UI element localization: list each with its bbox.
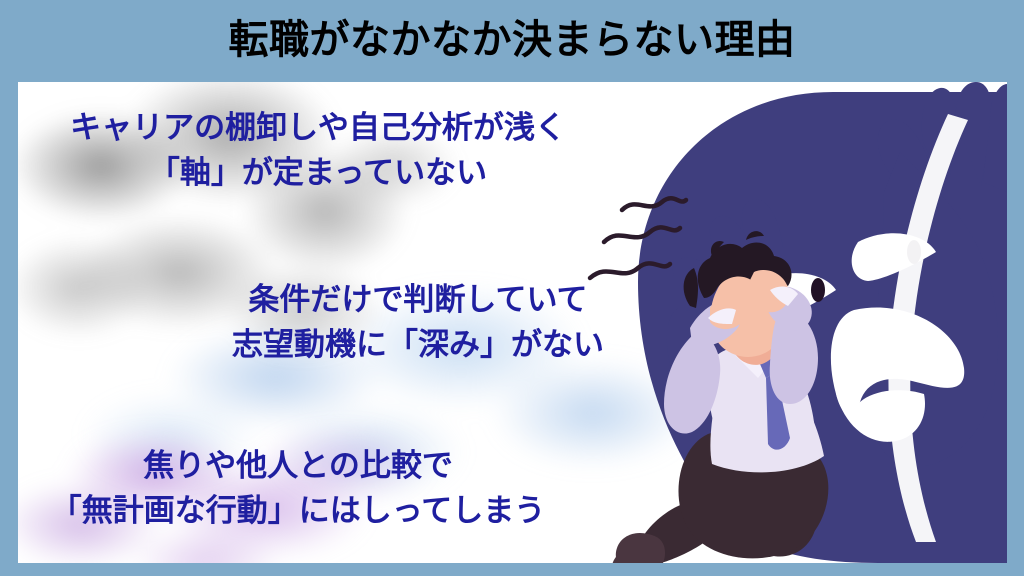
man-front-leg xyxy=(735,454,817,557)
ghost-left-hand xyxy=(667,199,819,459)
ghost-right-eye xyxy=(852,233,936,281)
slide-title-bar: 転職がなかなか決まらない理由 xyxy=(0,0,1024,80)
reason-1-line-2: 「軸」が定まっていない xyxy=(18,151,618,196)
man-left-arm xyxy=(770,308,818,404)
man-hair-tuft-1 xyxy=(711,241,724,256)
man-rear-leg xyxy=(679,449,818,542)
man-collar xyxy=(736,346,774,378)
man-cuff-left xyxy=(770,287,798,306)
ghost-right-pupil xyxy=(907,240,921,264)
man-right-forearm xyxy=(690,300,742,347)
reason-2-line-1: 条件だけで判断していて xyxy=(148,278,688,323)
stress-line-3 xyxy=(590,263,670,278)
man-right-hand xyxy=(710,290,750,329)
ghost-left-pupil xyxy=(811,278,825,302)
man-neck xyxy=(732,327,776,365)
man-trousers xyxy=(678,428,828,558)
ghost-mouth xyxy=(831,308,964,415)
content-panel: キャリアの棚卸しや自己分析が浅く 「軸」が定まっていない 条件だけで判断していて… xyxy=(18,82,1007,563)
reason-1-line-1: キャリアの棚卸しや自己分析が浅く xyxy=(18,106,618,151)
man-tie-blade xyxy=(766,372,790,450)
page-title: 転職がなかなか決まらない理由 xyxy=(229,20,796,60)
man-cuff-right xyxy=(708,308,736,324)
ghost-mouth-lower xyxy=(836,390,925,442)
man-shirt-upper xyxy=(709,345,814,437)
ghost-body xyxy=(638,92,1007,563)
reason-3-line-1: 焦りや他人との比較で xyxy=(18,444,578,489)
reason-2-line-2: 志望動機に「深み」がない xyxy=(148,323,688,368)
man-shoe xyxy=(616,533,665,563)
man-lower-leg xyxy=(636,500,724,563)
reason-text-2: 条件だけで判断していて 志望動機に「深み」がない xyxy=(148,278,688,368)
ghost-highlight xyxy=(888,114,968,542)
ghost-right-hand xyxy=(868,82,1007,467)
stress-line-2 xyxy=(604,227,680,242)
stress-line-1 xyxy=(622,198,686,210)
slide-canvas: 転職がなかなか決まらない理由 xyxy=(0,0,1024,576)
ghost-left-eye xyxy=(754,273,836,320)
stress-lines-group xyxy=(590,198,686,278)
man-hair-tuft-2 xyxy=(746,231,764,240)
worried-ghost-figure xyxy=(638,82,1007,563)
man-left-forearm xyxy=(766,286,812,330)
reason-3-line-2: 「無計画な行動」にはしってしまう xyxy=(18,489,578,534)
man-hair xyxy=(698,242,792,298)
man-shirt xyxy=(710,368,824,473)
man-head xyxy=(710,273,784,357)
man-tie xyxy=(760,358,776,378)
reason-text-3: 焦りや他人との比較で 「無計画な行動」にはしってしまう xyxy=(18,444,578,534)
man-left-hand xyxy=(748,270,789,312)
man-shoe-2 xyxy=(612,552,648,563)
reason-text-1: キャリアの棚卸しや自己分析が浅く 「軸」が定まっていない xyxy=(18,106,618,196)
